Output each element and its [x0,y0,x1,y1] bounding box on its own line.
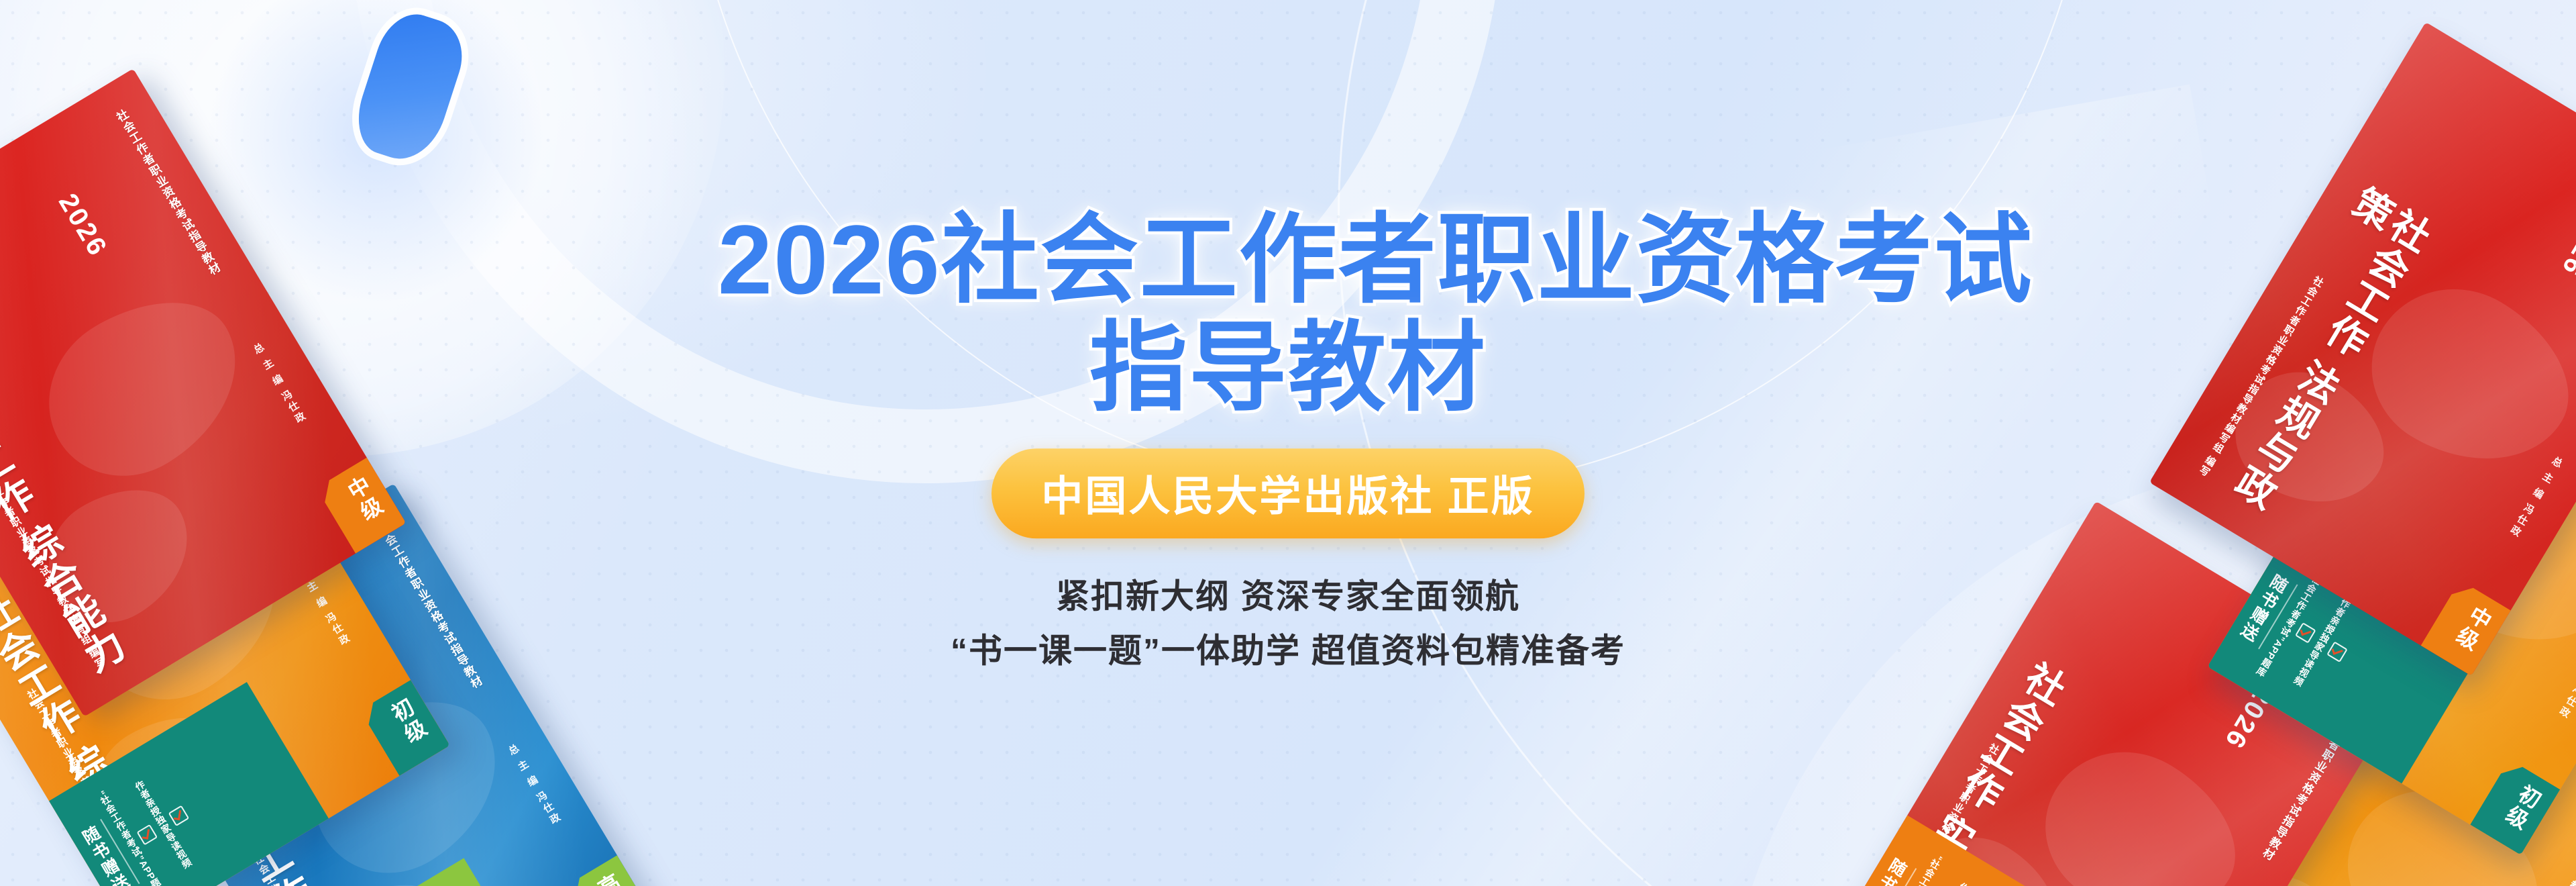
background-blue-glow-decor [201,0,550,309]
blue-ribbon-decor [347,5,473,169]
banner-center-content: 2026社会工作者职业资格考试 指导教材 中国人民大学出版社 正版 紧扣新大纲 … [718,208,1858,678]
checkmark-icon [168,805,190,827]
banner-title-line-1: 2026社会工作者职业资格考试 [718,208,1858,312]
publisher-badge[interactable]: 中国人民大学出版社 正版 [991,448,1584,538]
banner-title-line-2: 指导教材 [718,316,1858,420]
banner-tagline-1: 紧扣新大纲 资深专家全面领航 [718,569,1858,624]
checkmark-icon [137,824,158,846]
banner-taglines: 紧扣新大纲 资深专家全面领航 “书一课一题”一体助学 超值资料包精准备考 [718,569,1858,678]
promo-banner: 社会工作者职业资格考试指导教材 2026 社会工作 综合能力 总 主 编 冯仕政… [0,0,2576,886]
banner-tagline-2: “书一课一题”一体助学 超值资料包精准备考 [718,624,1858,678]
checkmark-icon [2326,641,2348,662]
book-gift-label: 随书赠送 [1852,853,1917,886]
checkmark-icon [2295,622,2316,644]
